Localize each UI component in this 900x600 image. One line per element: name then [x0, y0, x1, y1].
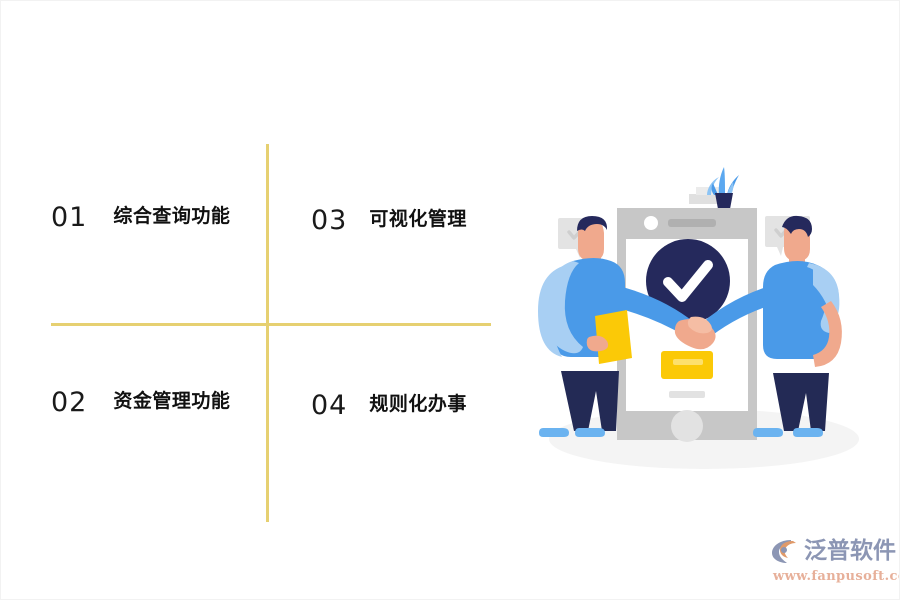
quadrant-number: 04 [311, 389, 347, 423]
screen-content-card [633, 339, 741, 409]
slide-canvas: 01 综合查询功能 02 资金管理功能 03 可视化管理 04 规则化办事 [0, 0, 900, 600]
left-person-shoe [539, 428, 569, 437]
phone-home-button [671, 410, 703, 442]
logo-row: 泛普软件 [771, 534, 893, 568]
left-person-shoe [575, 428, 605, 437]
quadrant-label: 规则化办事 [369, 389, 526, 420]
right-person-shoe [753, 428, 783, 437]
quadrant-number: 01 [51, 201, 87, 235]
quadrant-label: 可视化管理 [369, 204, 526, 235]
right-person-shoe [793, 428, 823, 437]
horizontal-divider [51, 323, 491, 326]
quadrant-label: 资金管理功能 [109, 386, 234, 417]
quadrant-label: 综合查询功能 [109, 201, 234, 232]
card-gray-line [669, 391, 705, 398]
quadrant-item-01[interactable]: 01 综合查询功能 [51, 201, 256, 235]
potted-plant-icon [689, 167, 739, 209]
yellow-card-line [673, 359, 703, 365]
fanpu-logo-icon [771, 536, 801, 566]
vertical-divider [266, 144, 269, 522]
quadrant-item-03[interactable]: 03 可视化管理 [311, 204, 526, 238]
quadrant-item-04[interactable]: 04 规则化办事 [311, 389, 526, 423]
company-name: 泛普软件 [804, 536, 896, 566]
quadrant-item-02[interactable]: 02 资金管理功能 [51, 386, 256, 420]
phone-camera-dot [644, 216, 658, 230]
company-watermark: 泛普软件 www.fanpusoft.com [771, 534, 893, 590]
quadrant-number: 02 [51, 386, 87, 420]
handshake-smartphone-illustration [521, 161, 881, 481]
quadrant-grid: 01 综合查询功能 02 资金管理功能 03 可视化管理 04 规则化办事 [1, 1, 541, 600]
phone-speaker-bar [668, 219, 716, 227]
company-url: www.fanpusoft.com [773, 569, 893, 584]
quadrant-number: 03 [311, 204, 347, 238]
